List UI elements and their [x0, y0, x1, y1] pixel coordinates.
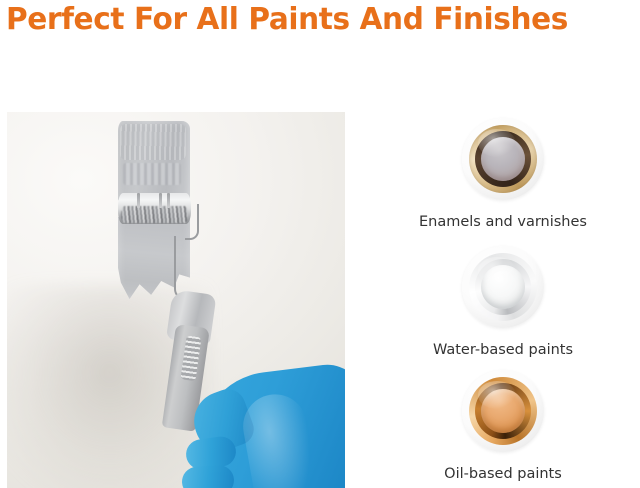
- feature-item-water-based: Water-based paints: [372, 246, 634, 358]
- roller-wire-frame: [185, 204, 199, 240]
- can-liquid: [481, 137, 525, 181]
- feature-item-enamels: Enamels and varnishes: [372, 118, 634, 230]
- roller-band: [167, 193, 170, 208]
- feature-label-enamels: Enamels and varnishes: [419, 214, 587, 230]
- paint-can-oil-based-icon: [462, 370, 544, 452]
- roller-band: [137, 193, 140, 208]
- can-liquid: [481, 265, 525, 309]
- roller-band: [159, 193, 162, 208]
- feature-item-oil-based: Oil-based paints: [372, 370, 634, 482]
- paint-can-water-based-icon: [462, 246, 544, 328]
- glove-finger: [181, 464, 235, 488]
- page-headline: Perfect For All Paints And Finishes: [6, 0, 627, 40]
- feature-label-oil-based: Oil-based paints: [444, 466, 562, 482]
- feature-label-water-based: Water-based paints: [433, 342, 573, 358]
- paint-patch-upper: [118, 121, 190, 201]
- paint-can-enamel-icon: [462, 118, 544, 200]
- blue-glove-hand: [162, 342, 345, 488]
- paint-type-feature-list: Enamels and varnishes Water-based paints…: [372, 112, 634, 488]
- can-liquid: [481, 389, 525, 433]
- roller-sleeve: [118, 193, 191, 224]
- product-photo: [7, 112, 345, 488]
- paint-roller-head: [118, 193, 191, 224]
